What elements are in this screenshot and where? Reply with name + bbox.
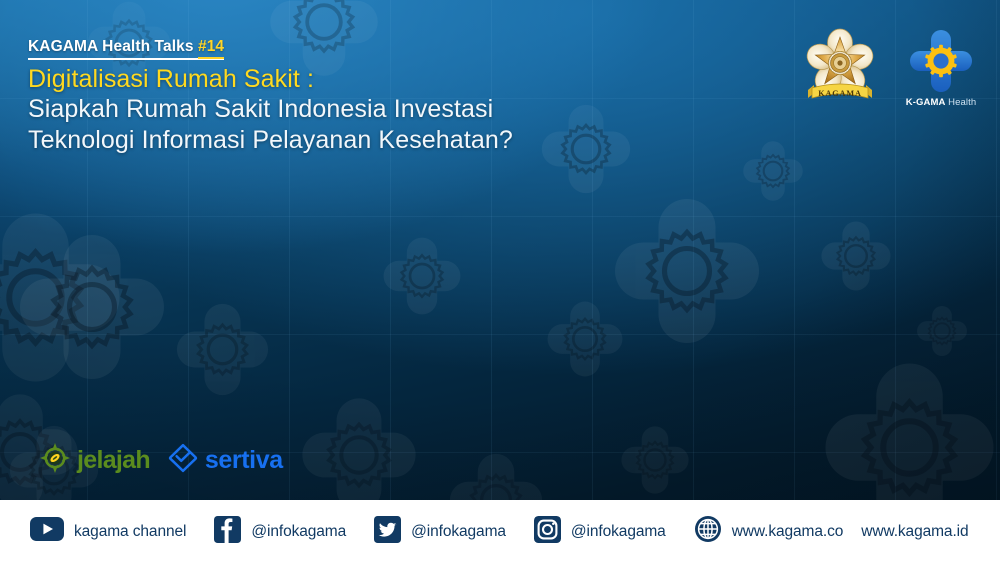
cross-gear-motif xyxy=(540,103,632,195)
footer-label-twitter: @infokagama xyxy=(411,523,506,541)
instagram-icon xyxy=(534,516,561,548)
cross-gear-motif xyxy=(742,140,804,202)
cross-gear-motif xyxy=(820,220,892,292)
cross-gear-motif xyxy=(0,210,123,385)
kagama-emblem: KAGAMA xyxy=(804,28,876,108)
sponsor-sertiva[interactable]: sertiva xyxy=(168,443,283,478)
page-title: Digitalisasi Rumah Sakit : Siapkah Rumah… xyxy=(28,64,513,155)
cross-gear-motif xyxy=(546,300,624,378)
kgama-light-text: Health xyxy=(948,97,976,108)
sponsor-row: jelajah sertiva xyxy=(40,443,283,478)
kicker-episode-number: #14 xyxy=(198,38,224,59)
footer-item-youtube[interactable]: kagama channel xyxy=(30,517,186,546)
title-line-2: Siapkah Rumah Sakit Indonesia Investasi xyxy=(28,94,513,124)
youtube-icon xyxy=(30,517,64,546)
twitter-icon xyxy=(374,516,401,548)
kgama-bold-text: K-GAMA xyxy=(906,97,946,108)
cross-gear-motif xyxy=(17,232,167,382)
compass-icon xyxy=(40,443,70,478)
footer-item-facebook[interactable]: @infokagama xyxy=(214,516,346,548)
footer-item-website[interactable]: www.kagama.co xyxy=(694,515,844,548)
kicker-text: KAGAMA Health Talks xyxy=(28,38,194,55)
cross-gear-motif xyxy=(175,302,270,397)
title-line-3: Teknologi Informasi Pelayanan Kesehatan? xyxy=(28,125,513,155)
cross-gear-motif xyxy=(916,305,968,357)
shield-check-icon xyxy=(168,443,198,478)
sponsor-jelajah[interactable]: jelajah xyxy=(40,443,150,478)
footer-label-instagram: @infokagama xyxy=(571,523,666,541)
cross-gear-motif xyxy=(620,425,690,495)
kgama-health-wordmark: K-GAMA Health xyxy=(906,97,976,108)
footer-bar: kagama channel @infokagama @infokagama xyxy=(0,500,1000,563)
poster-canvas: KAGAMA Health Talks #14 Digitalisasi Rum… xyxy=(0,0,1000,563)
title-line-1: Digitalisasi Rumah Sakit : xyxy=(28,64,513,94)
facebook-icon xyxy=(214,516,241,548)
footer-item-instagram[interactable]: @infokagama xyxy=(534,516,666,548)
kgama-health-logo: K-GAMA Health xyxy=(898,28,984,108)
svg-text:KAGAMA: KAGAMA xyxy=(818,89,862,98)
sponsor-jelajah-label: jelajah xyxy=(77,448,150,473)
footer-label-website: www.kagama.co xyxy=(732,523,844,541)
cross-gear-motif xyxy=(300,396,418,514)
sponsor-sertiva-label: sertiva xyxy=(205,448,283,473)
footer-link-kagama-id[interactable]: www.kagama.id xyxy=(861,523,968,541)
footer-label-facebook: @infokagama xyxy=(251,523,346,541)
cross-gear-motif xyxy=(612,196,762,346)
cross-gear-motif xyxy=(382,236,462,316)
globe-icon xyxy=(694,515,722,548)
kgama-cross-gear-icon xyxy=(908,28,974,94)
logo-group: KAGAMA xyxy=(804,28,984,108)
footer-label-youtube: kagama channel xyxy=(74,523,186,541)
event-kicker: KAGAMA Health Talks #14 xyxy=(28,38,224,60)
footer-item-twitter[interactable]: @infokagama xyxy=(374,516,506,548)
